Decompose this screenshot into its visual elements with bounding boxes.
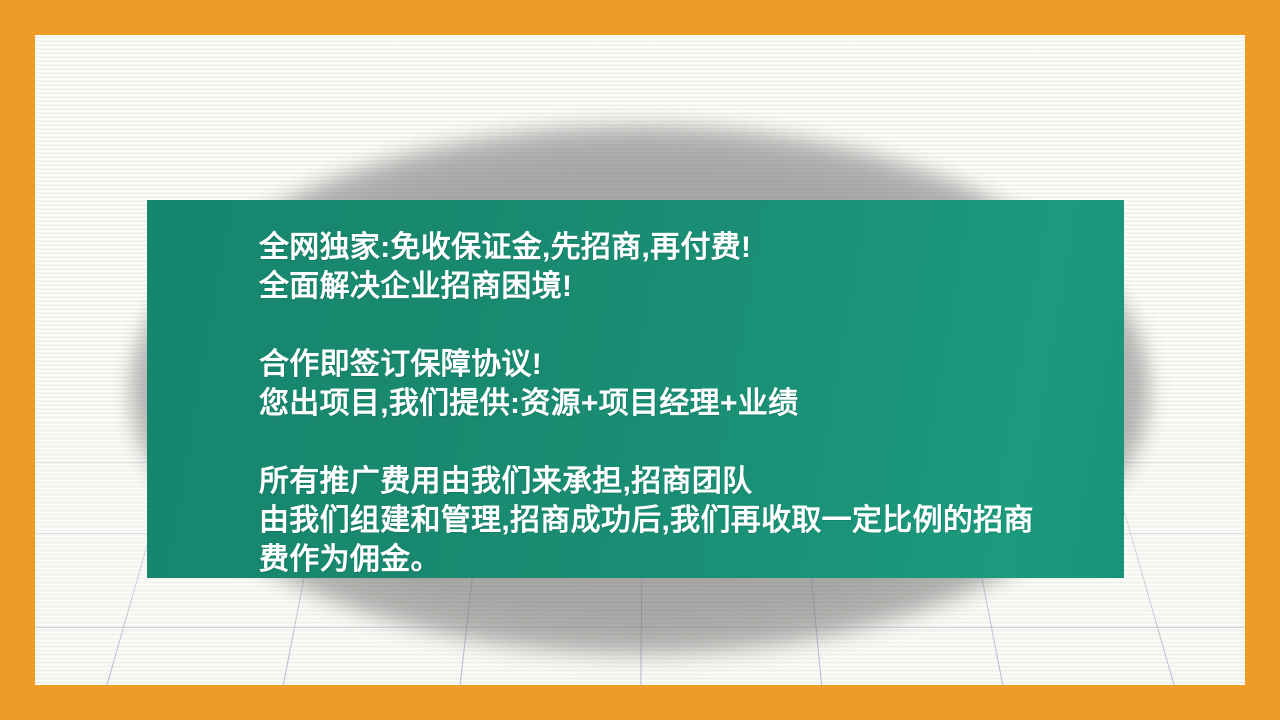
text-block-2: 合作即签订保障协议! 您出项目,我们提供:资源+项目经理+业绩 bbox=[259, 345, 1088, 423]
panel-line: 费作为佣金。 bbox=[259, 540, 1088, 578]
room-stage: 全网独家:免收保证金,先招商,再付费! 全面解决企业招商困境! 合作即签订保障协… bbox=[35, 35, 1245, 685]
panel-line: 所有推广费用由我们来承担,招商团队 bbox=[259, 462, 1088, 501]
text-block-3: 所有推广费用由我们来承担,招商团队 由我们组建和管理,招商成功后,我们再收取一定… bbox=[259, 462, 1088, 578]
panel-line: 您出项目,我们提供:资源+项目经理+业绩 bbox=[259, 384, 1088, 423]
slide-root: 全网独家:免收保证金,先招商,再付费! 全面解决企业招商困境! 合作即签订保障协… bbox=[0, 0, 1280, 720]
panel-line: 由我们组建和管理,招商成功后,我们再收取一定比例的招商 bbox=[259, 501, 1088, 540]
panel-line: 合作即签订保障协议! bbox=[259, 345, 1088, 384]
green-content-panel: 全网独家:免收保证金,先招商,再付费! 全面解决企业招商困境! 合作即签订保障协… bbox=[147, 200, 1124, 578]
panel-line: 全网独家:免收保证金,先招商,再付费! bbox=[259, 228, 1088, 267]
text-block-1: 全网独家:免收保证金,先招商,再付费! 全面解决企业招商困境! bbox=[259, 228, 1088, 306]
block-spacer bbox=[259, 306, 1088, 345]
block-spacer bbox=[259, 423, 1088, 462]
panel-line: 全面解决企业招商困境! bbox=[259, 267, 1088, 306]
